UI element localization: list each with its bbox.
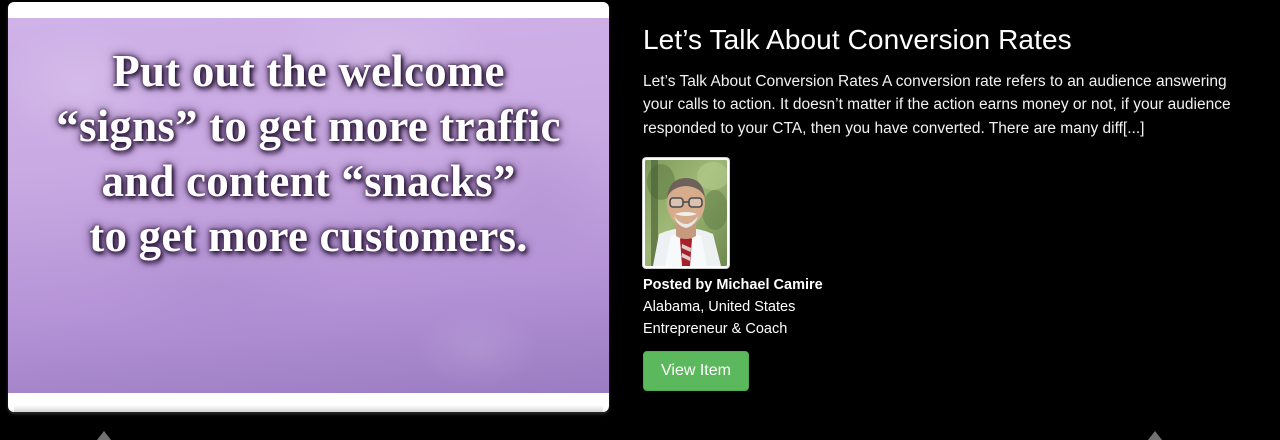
page-title: Let’s Talk About Conversion Rates — [643, 0, 1255, 57]
carousel-prev-icon[interactable] — [97, 431, 111, 440]
carousel-next-icon[interactable] — [1148, 431, 1162, 440]
promo-carousel-slide: Put out the welcome “signs” to get more … — [0, 0, 1280, 440]
posted-by-label: Posted by Michael Camire — [643, 268, 1255, 293]
author-photo-image — [645, 160, 727, 266]
listing-description: Let’s Talk About Conversion Rates A conv… — [643, 57, 1243, 140]
author-role: Entrepreneur & Coach — [643, 315, 1255, 337]
frame-bottom-edge — [14, 405, 603, 412]
slide-image-canvas: Put out the welcome “signs” to get more … — [8, 18, 609, 393]
view-item-button[interactable]: View Item — [643, 351, 749, 391]
listing-details: Let’s Talk About Conversion Rates Let’s … — [643, 0, 1255, 440]
author-location: Alabama, United States — [643, 293, 1255, 315]
slide-quote-text: Put out the welcome “signs” to get more … — [8, 18, 609, 264]
slide-image-frame[interactable]: Put out the welcome “signs” to get more … — [8, 2, 609, 412]
avatar — [643, 158, 729, 268]
